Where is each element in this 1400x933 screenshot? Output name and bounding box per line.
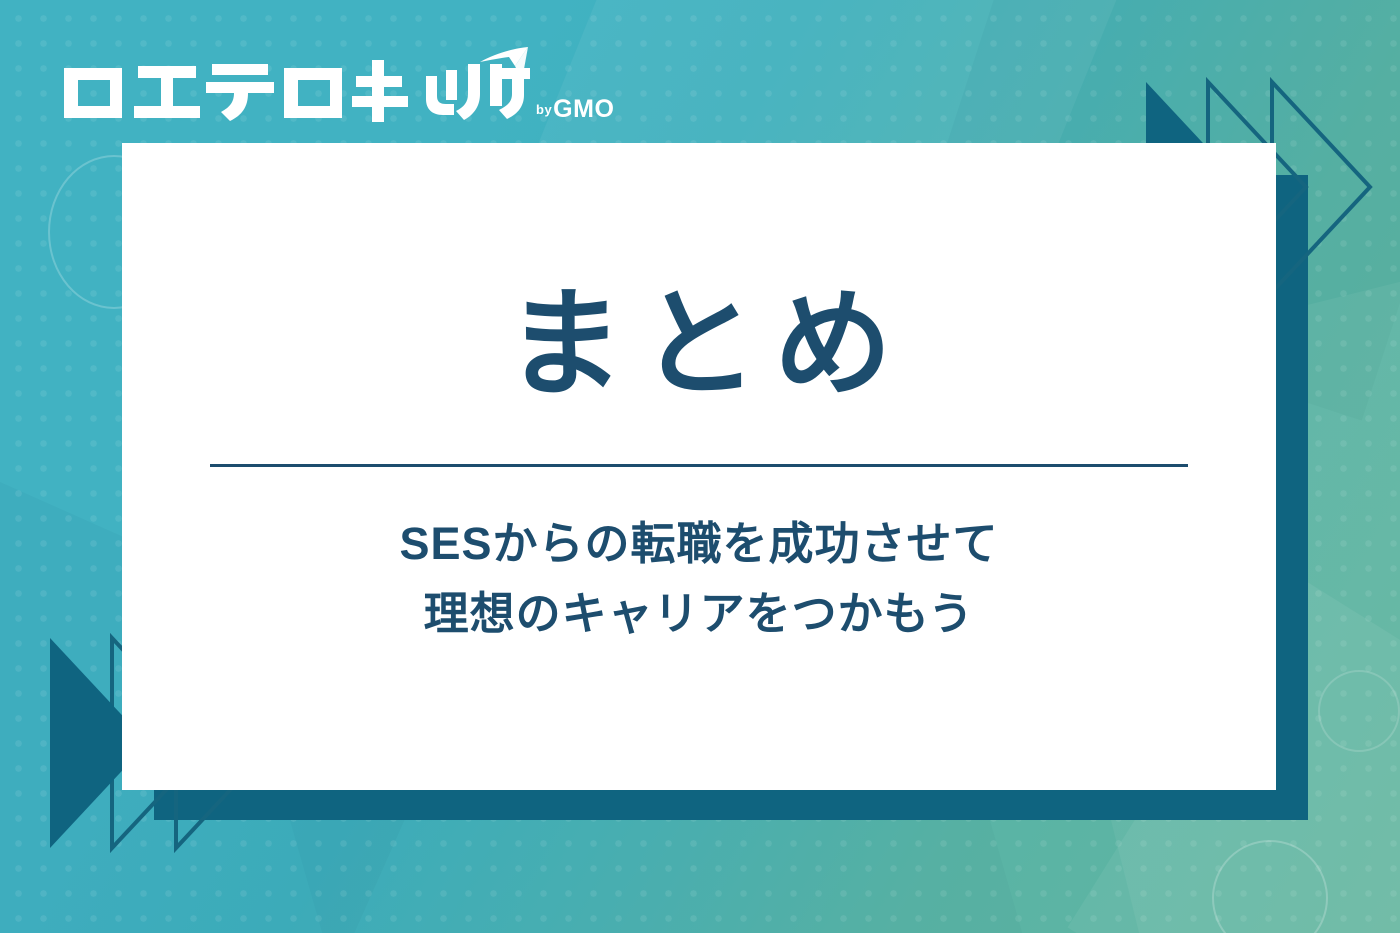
page-subtitle-line-2: 理想のキャリアをつかもう bbox=[399, 579, 998, 649]
logo-gmo-text: GMO bbox=[553, 95, 614, 123]
logo-wordmark-icon bbox=[60, 46, 530, 129]
logo-by-gmo-label: byGMO bbox=[536, 95, 614, 124]
content-card-inner: まとめ SESからの転職を成功させて 理想のキャリアをつかもう bbox=[210, 284, 1188, 648]
content-card: まとめ SESからの転職を成功させて 理想のキャリアをつかもう bbox=[122, 143, 1276, 790]
logo-by-text: by bbox=[536, 102, 552, 117]
brand-logo[interactable]: byGMO bbox=[60, 46, 614, 129]
title-divider bbox=[210, 464, 1188, 467]
circle-outline-icon-right bbox=[1212, 840, 1328, 933]
page-subtitle-line-1: SESからの転職を成功させて bbox=[399, 509, 998, 579]
page-title: まとめ bbox=[506, 284, 908, 408]
circle-outline-icon-mid bbox=[1318, 670, 1400, 752]
page-subtitle: SESからの転職を成功させて 理想のキャリアをつかもう bbox=[399, 509, 998, 649]
slide-root: byGMO まとめ SESからの転職を成功させて 理想のキャリアをつかもう bbox=[0, 0, 1400, 933]
triangle-outline-far-icon bbox=[1272, 82, 1370, 292]
